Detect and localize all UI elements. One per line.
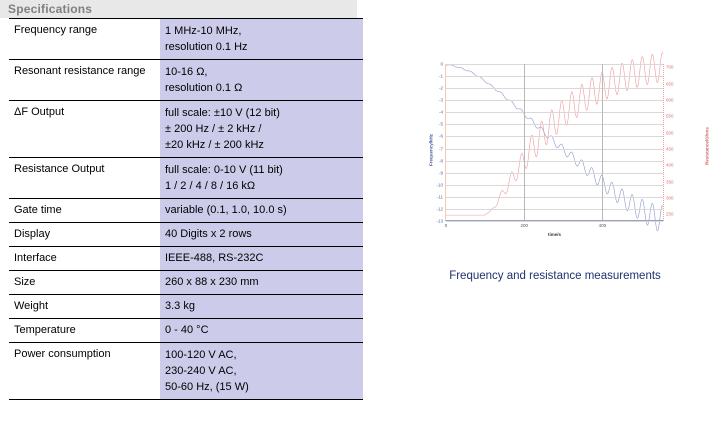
spec-label-text: Resonant resistance range <box>14 64 156 79</box>
chart-gridline-horizontal <box>446 64 663 65</box>
chart-figure: Frequency/kHz Resistance/Ohms time/s 0-1… <box>410 52 700 297</box>
chart-gridline-horizontal <box>446 173 663 174</box>
chart-y-tick-right: 250 <box>666 212 674 217</box>
chart-y-tick-right: 500 <box>666 130 674 135</box>
spec-label-cell: Size <box>9 271 160 295</box>
spec-value-cell: variable (0.1, 1.0, 10.0 s) <box>160 199 363 223</box>
chart-gridline-horizontal <box>446 209 663 210</box>
spec-value-text: 40 Digits x 2 rows <box>165 227 359 242</box>
chart-plot-area: 0-1-2-3-4-5-6-7-8-9-10-11-12-13250300350… <box>445 64 664 221</box>
chart-x-tick: 200 <box>520 223 528 228</box>
spec-value-text: resolution 0.1 Ω <box>165 80 359 96</box>
spec-value-text: full scale: 0-10 V (11 bit) <box>165 162 359 178</box>
spec-value-text: 230-240 V AC, <box>165 363 359 379</box>
table-row: Resistance Outputfull scale: 0-10 V (11 … <box>9 158 363 199</box>
spec-value-cell: 40 Digits x 2 rows <box>160 223 363 247</box>
table-row: Resonant resistance range10-16 Ω,resolut… <box>9 60 363 101</box>
chart-gridline-horizontal <box>446 88 663 89</box>
page-root: Specifications Frequency range1 MHz-10 M… <box>0 0 723 430</box>
chart-gridline-horizontal <box>446 100 663 101</box>
spec-value-cell: 1 MHz-10 MHz,resolution 0.1 Hz <box>160 19 363 60</box>
spec-value-text: ± 200 Hz / ± 2 kHz / <box>165 121 359 137</box>
chart-gridline-horizontal <box>446 221 663 222</box>
specifications-header: Specifications <box>0 0 357 18</box>
spec-label-cell: Display <box>9 223 160 247</box>
spec-value-text: ±20 kHz / ± 200 kHz <box>165 137 359 153</box>
spec-label-cell: Power consumption <box>9 343 160 400</box>
chart-gridline-vertical <box>524 64 525 220</box>
chart-y-tick-left: 0 <box>440 62 443 67</box>
spec-label-text: Power consumption <box>14 347 156 362</box>
table-row: Display40 Digits x 2 rows <box>9 223 363 247</box>
chart-y-tick-right: 450 <box>666 147 674 152</box>
chart-y-tick-left: -2 <box>439 86 443 91</box>
table-row: ΔF Outputfull scale: ±10 V (12 bit)± 200… <box>9 101 363 158</box>
table-row: Size260 x 88 x 230 mm <box>9 271 363 295</box>
chart-gridline-horizontal <box>446 161 663 162</box>
chart-y-tick-left: -1 <box>439 74 443 79</box>
spec-value-text: 3.3 kg <box>165 299 359 314</box>
chart-y-tick-left: -9 <box>439 170 443 175</box>
spec-label-text: Size <box>14 275 156 290</box>
spec-value-cell: full scale: 0-10 V (11 bit)1 / 2 / 4 / 8… <box>160 158 363 199</box>
chart-y-tick-right: 400 <box>666 163 674 168</box>
table-row: InterfaceIEEE-488, RS-232C <box>9 247 363 271</box>
table-row: Temperature0 - 40 °C <box>9 319 363 343</box>
spec-label-text: Display <box>14 227 156 242</box>
spec-label-cell: Temperature <box>9 319 160 343</box>
spec-label-text: Gate time <box>14 203 156 218</box>
chart-x-axis-title: time/s <box>445 232 664 237</box>
spec-value-text: 260 x 88 x 230 mm <box>165 275 359 290</box>
specifications-title: Specifications <box>8 2 92 16</box>
chart-y-tick-right: 350 <box>666 179 674 184</box>
spec-value-text: 1 MHz-10 MHz, <box>165 23 359 39</box>
chart-y-tick-right: 700 <box>666 65 674 70</box>
chart-y-tick-left: -4 <box>439 110 443 115</box>
spec-label-cell: Resistance Output <box>9 158 160 199</box>
chart-gridline-horizontal <box>446 149 663 150</box>
spec-label-text: Temperature <box>14 323 156 338</box>
spec-value-cell: full scale: ±10 V (12 bit)± 200 Hz / ± 2… <box>160 101 363 158</box>
specifications-table: Frequency range1 MHz-10 MHz,resolution 0… <box>9 18 363 400</box>
spec-value-cell: IEEE-488, RS-232C <box>160 247 363 271</box>
chart-left-axis-title: Frequency/kHz <box>429 134 434 166</box>
spec-value-text: 100-120 V AC, <box>165 347 359 363</box>
spec-value-text: 50-60 Hz, (15 W) <box>165 379 359 395</box>
chart-gridline-horizontal <box>446 76 663 77</box>
spec-label-text: Frequency range <box>14 23 156 38</box>
spec-value-text: 10-16 Ω, <box>165 64 359 80</box>
chart-y-tick-left: -5 <box>439 122 443 127</box>
spec-label-cell: Interface <box>9 247 160 271</box>
spec-label-text: Weight <box>14 299 156 314</box>
spec-label-text: ΔF Output <box>14 105 156 120</box>
spec-label-text: Resistance Output <box>14 162 156 177</box>
chart-y-tick-left: -7 <box>439 146 443 151</box>
chart-gridline-horizontal <box>446 197 663 198</box>
table-row: Gate timevariable (0.1, 1.0, 10.0 s) <box>9 199 363 223</box>
chart-gridline-horizontal <box>446 185 663 186</box>
spec-value-cell: 3.3 kg <box>160 295 363 319</box>
spec-value-text: full scale: ±10 V (12 bit) <box>165 105 359 121</box>
table-row: Frequency range1 MHz-10 MHz,resolution 0… <box>9 19 363 60</box>
spec-label-cell: Resonant resistance range <box>9 60 160 101</box>
chart-y-tick-left: -11 <box>437 194 443 199</box>
chart-y-tick-left: -3 <box>439 98 443 103</box>
chart-gridline-horizontal <box>446 124 663 125</box>
spec-label-cell: Frequency range <box>9 19 160 60</box>
spec-value-text: 1 / 2 / 4 / 8 / 16 kΩ <box>165 178 359 194</box>
chart-y-tick-left: -6 <box>439 134 443 139</box>
chart-plot-container: Frequency/kHz Resistance/Ohms time/s 0-1… <box>410 52 700 248</box>
chart-caption: Frequency and resistance measurements <box>410 270 700 282</box>
chart-y-tick-left: -10 <box>436 182 443 187</box>
chart-x-tick: 400 <box>599 223 607 228</box>
chart-gridline-horizontal <box>446 136 663 137</box>
spec-value-cell: 100-120 V AC,230-240 V AC,50-60 Hz, (15 … <box>160 343 363 400</box>
chart-y-tick-right: 650 <box>666 81 674 86</box>
chart-y-tick-right: 300 <box>666 196 674 201</box>
chart-series-resistance <box>446 53 663 215</box>
spec-label-cell: Gate time <box>9 199 160 223</box>
chart-x-tick: 0 <box>445 223 448 228</box>
chart-y-tick-left: -8 <box>439 158 443 163</box>
spec-value-text: 0 - 40 °C <box>165 323 359 338</box>
spec-value-cell: 10-16 Ω,resolution 0.1 Ω <box>160 60 363 101</box>
table-row: Power consumption100-120 V AC,230-240 V … <box>9 343 363 400</box>
spec-label-text: Interface <box>14 251 156 266</box>
spec-value-text: resolution 0.1 Hz <box>165 39 359 55</box>
chart-y-tick-left: -12 <box>436 206 443 211</box>
chart-right-axis-title: Resistance/Ohms <box>704 127 709 165</box>
chart-gridline-horizontal <box>446 112 663 113</box>
chart-gridline-vertical <box>602 64 603 220</box>
spec-value-text: IEEE-488, RS-232C <box>165 251 359 266</box>
spec-label-cell: ΔF Output <box>9 101 160 158</box>
chart-y-tick-left: -13 <box>436 219 443 224</box>
spec-label-cell: Weight <box>9 295 160 319</box>
table-row: Weight3.3 kg <box>9 295 363 319</box>
chart-y-tick-right: 550 <box>666 114 674 119</box>
spec-value-cell: 0 - 40 °C <box>160 319 363 343</box>
spec-value-cell: 260 x 88 x 230 mm <box>160 271 363 295</box>
spec-value-text: variable (0.1, 1.0, 10.0 s) <box>165 203 359 218</box>
chart-y-tick-right: 600 <box>666 97 674 102</box>
